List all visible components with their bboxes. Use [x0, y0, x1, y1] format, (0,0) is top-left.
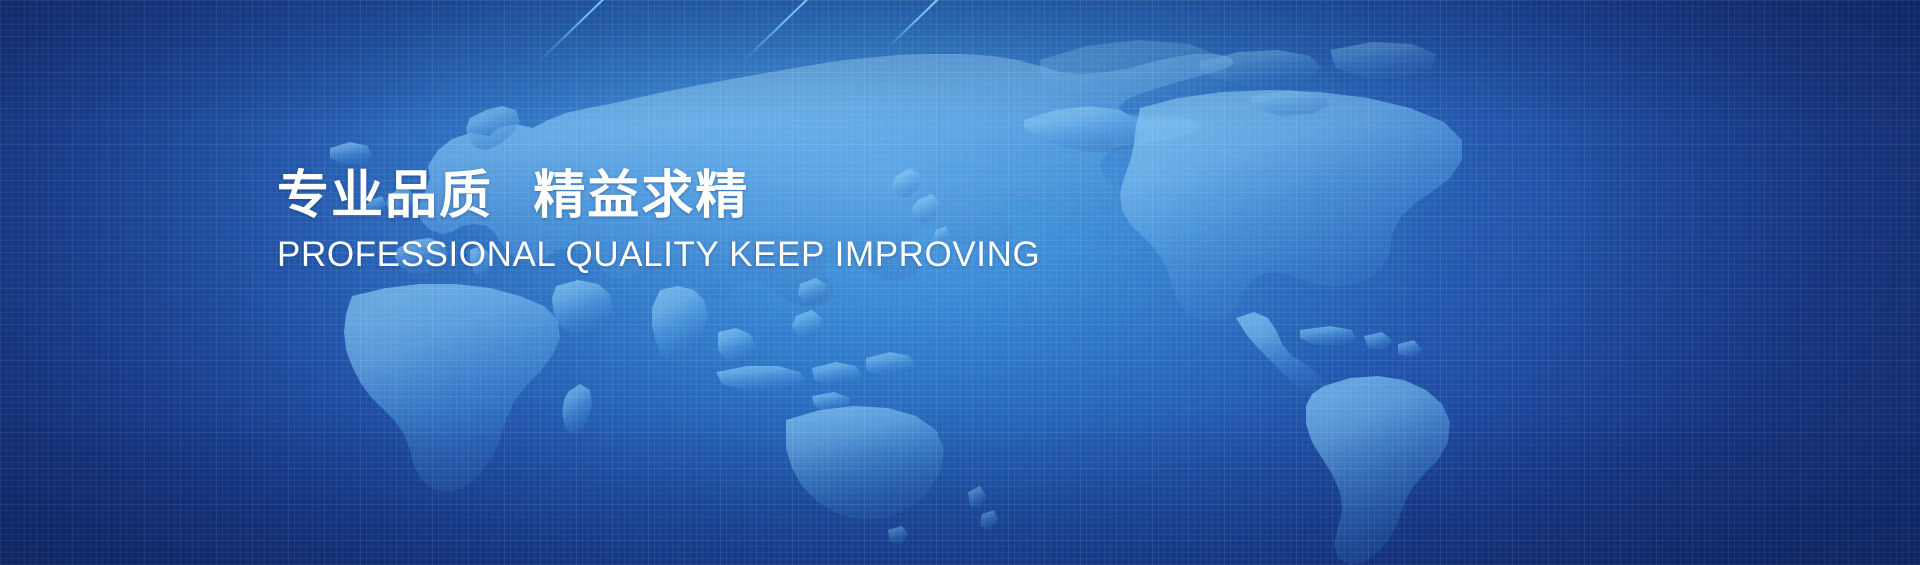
diagonal-light-streak [886, 0, 968, 49]
banner-headline-english: PROFESSIONAL QUALITY KEEP IMPROVING [277, 236, 1077, 275]
hero-banner: 专业品质 精益求精 PROFESSIONAL QUALITY KEEP IMPR… [0, 0, 1920, 565]
diagonal-light-streak [538, 0, 667, 62]
diagonal-light-streak [742, 0, 858, 62]
diagonal-light-streak-group [0, 0, 1920, 565]
banner-copy: 专业品质 精益求精 PROFESSIONAL QUALITY KEEP IMPR… [277, 168, 1077, 275]
banner-headline-chinese: 专业品质 精益求精 [277, 168, 1077, 224]
